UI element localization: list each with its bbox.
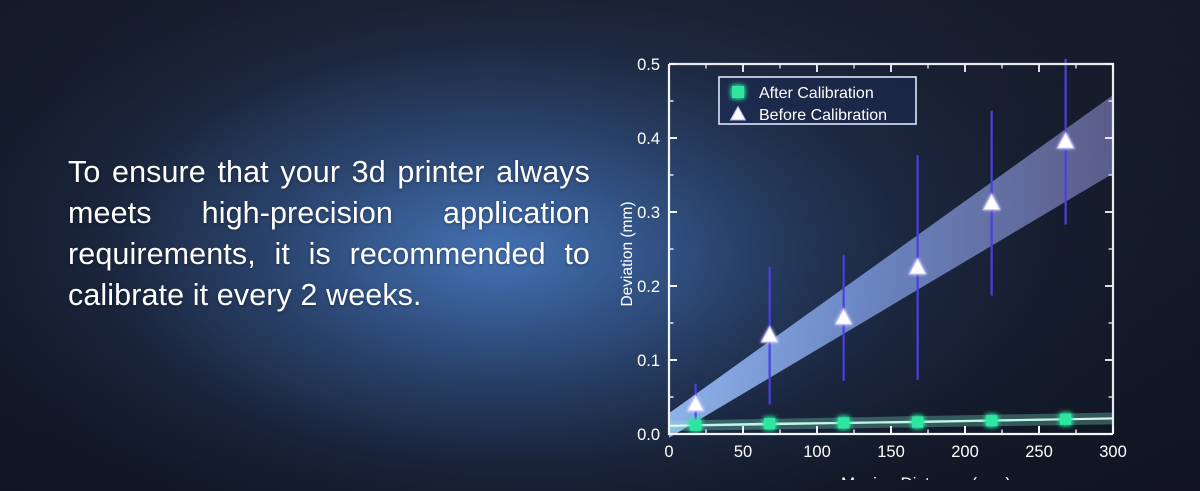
chart-legend: After CalibrationBefore Calibration [719,77,916,124]
caption-paragraph: To ensure that your 3d printer always me… [68,152,590,316]
y-tick-label: 0.1 [637,352,660,370]
y-tick-label: 0.4 [637,130,660,148]
x-tick-label: 200 [951,443,979,461]
x-tick-label: 50 [734,443,752,461]
y-axis-title: Deviation (mm) [620,201,636,306]
x-axis-title: Moving Distance (mm) [841,474,1011,480]
legend-label: Before Calibration [759,107,887,124]
legend-label: After Calibration [759,85,874,102]
x-tick-label: 150 [877,443,905,461]
deviation-chart: 0501001502002503000.00.10.20.30.40.5Movi… [620,40,1180,480]
x-tick-label: 0 [664,443,673,461]
caption-text-block: To ensure that your 3d printer always me… [68,152,590,316]
before-confidence-band [669,95,1113,438]
y-tick-label: 0.0 [637,426,660,444]
chart-svg: 0501001502002503000.00.10.20.30.40.5Movi… [620,40,1180,480]
before-data-point [761,327,778,342]
x-tick-label: 300 [1099,443,1127,461]
y-tick-label: 0.5 [637,56,660,74]
legend-marker-square [732,86,744,98]
after-data-point [986,415,997,426]
y-tick-label: 0.2 [637,278,660,296]
y-tick-label: 0.3 [637,204,660,222]
x-tick-label: 100 [803,443,831,461]
after-data-point [1060,414,1071,425]
after-data-point [912,417,923,428]
slide-root: To ensure that your 3d printer always me… [0,0,1200,491]
after-data-point [838,417,849,428]
x-tick-label: 250 [1025,443,1053,461]
after-data-point [690,420,701,431]
after-data-point [764,418,775,429]
